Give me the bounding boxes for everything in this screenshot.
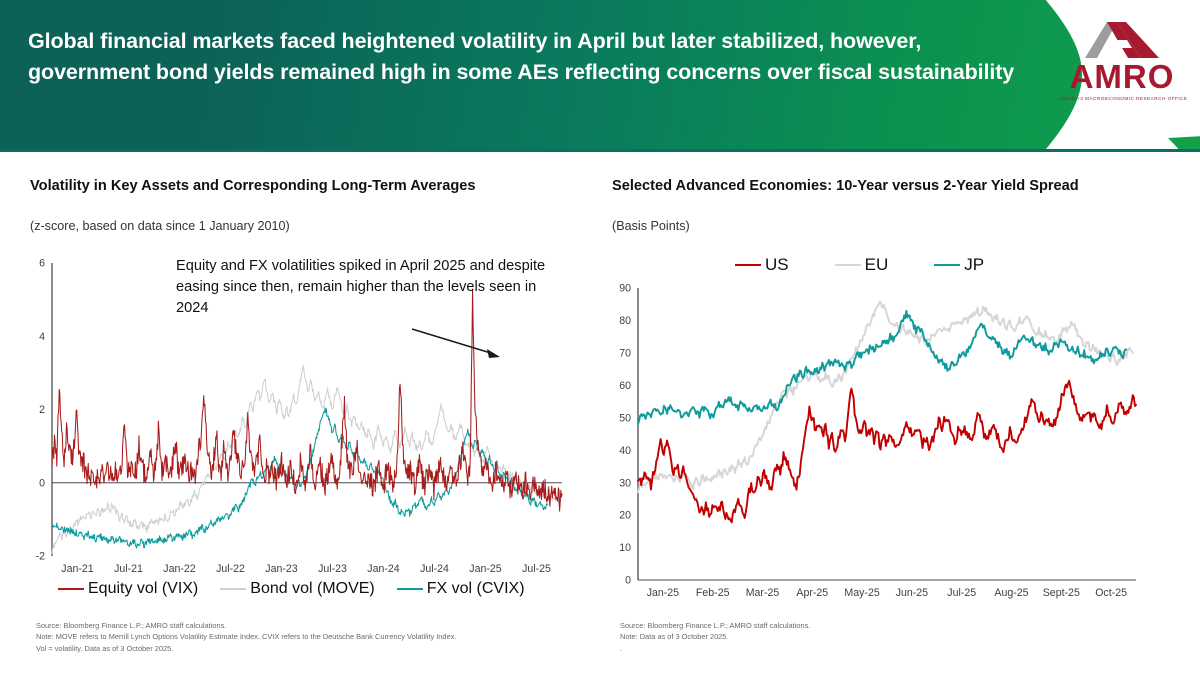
legend-label-bond-vol: Bond vol (MOVE) [250, 580, 374, 598]
legend-label-equity-vol: Equity vol (VIX) [88, 580, 198, 598]
legend-swatch-bond-vol [220, 588, 246, 590]
right-chart-legend: US EU JP [735, 255, 984, 275]
slide-root: AMRO ASEAN +3 MACROECONOMIC RESEARCH OFF… [0, 0, 1200, 700]
legend-swatch-us [735, 264, 761, 266]
legend-item-bond-vol: Bond vol (MOVE) [220, 580, 374, 598]
left-chart-footnote: Source: Bloomberg Finance L.P.; AMRO sta… [36, 620, 581, 654]
legend-swatch-equity-vol [58, 588, 84, 590]
left-chart-panel: Volatility in Key Assets and Correspondi… [0, 160, 600, 680]
right-chart-footnote: Source: Bloomberg Finance L.P.; AMRO sta… [620, 620, 1165, 654]
legend-item-us: US [735, 255, 789, 275]
legend-item-jp: JP [934, 255, 984, 275]
right-chart-title: Selected Advanced Economies: 10-Year ver… [612, 176, 1152, 196]
legend-label-fx-vol: FX vol (CVIX) [427, 580, 525, 598]
amro-tagline: ASEAN +3 MACROECONOMIC RESEARCH OFFICE [1057, 96, 1187, 101]
left-chart-legend: Equity vol (VIX) Bond vol (MOVE) FX vol … [58, 580, 525, 598]
amro-a-mark-icon [1083, 18, 1161, 58]
legend-label-jp: JP [964, 255, 984, 275]
legend-label-us: US [765, 255, 789, 275]
amro-logo: AMRO ASEAN +3 MACROECONOMIC RESEARCH OFF… [1052, 18, 1192, 126]
amro-wordmark: AMRO [1070, 60, 1175, 94]
legend-swatch-eu [835, 264, 861, 266]
left-chart-annotation: Equity and FX volatilities spiked in Apr… [176, 256, 546, 319]
legend-swatch-fx-vol [397, 588, 423, 590]
slide-headline: Global financial markets faced heightene… [28, 26, 1018, 88]
left-chart-subtitle: (z-score, based on data since 1 January … [30, 218, 290, 234]
legend-item-equity-vol: Equity vol (VIX) [58, 580, 198, 598]
legend-swatch-jp [934, 264, 960, 266]
header-banner: AMRO ASEAN +3 MACROECONOMIC RESEARCH OFF… [0, 0, 1200, 152]
legend-item-fx-vol: FX vol (CVIX) [397, 580, 525, 598]
legend-label-eu: EU [865, 255, 889, 275]
right-chart-subtitle: (Basis Points) [612, 218, 690, 234]
left-chart-title: Volatility in Key Assets and Correspondi… [30, 176, 550, 196]
header-divider [0, 149, 1200, 152]
right-chart-panel: Selected Advanced Economies: 10-Year ver… [600, 160, 1200, 680]
legend-item-eu: EU [835, 255, 889, 275]
